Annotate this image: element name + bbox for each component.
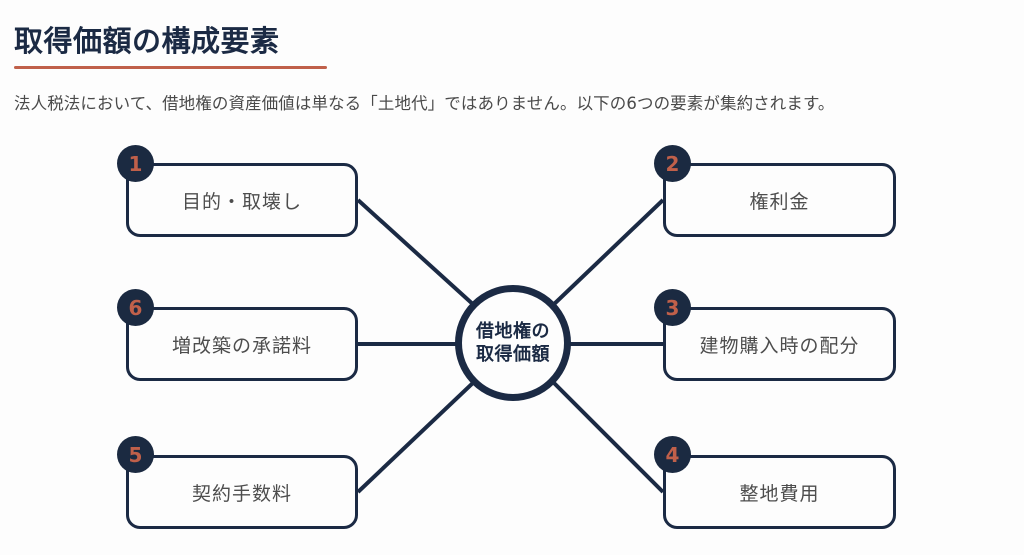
- node-label-2: 権利金: [749, 187, 809, 214]
- node-box-5[interactable]: 契約手数料: [126, 455, 358, 529]
- connector-node-4: [551, 380, 663, 492]
- node-badge-number-5: 5: [129, 445, 143, 465]
- node-badge-number-1: 1: [129, 154, 143, 174]
- node-badge-number-4: 4: [666, 445, 680, 465]
- node-label-6: 増改築の承諾料: [172, 331, 312, 358]
- node-box-1[interactable]: 目的・取壊し: [126, 163, 358, 237]
- acquisition-cost-diagram: 目的・取壊し 1 権利金 2 増改築の承諾料 6 建物購入時の配分 3 契約手数…: [0, 0, 1024, 555]
- node-box-4[interactable]: 整地費用: [663, 455, 896, 529]
- node-badge-number-2: 2: [666, 154, 680, 174]
- node-badge-number-3: 3: [666, 298, 680, 318]
- node-badge-3: 3: [654, 289, 691, 326]
- center-hub-circle: 借地権の 取得価額: [455, 285, 571, 401]
- node-box-2[interactable]: 権利金: [663, 163, 896, 237]
- node-label-4: 整地費用: [739, 479, 819, 506]
- node-badge-1: 1: [117, 145, 154, 182]
- node-badge-4: 4: [654, 436, 691, 473]
- node-badge-6: 6: [117, 289, 154, 326]
- node-badge-5: 5: [117, 436, 154, 473]
- connector-node-1: [358, 200, 476, 307]
- node-label-5: 契約手数料: [192, 479, 292, 506]
- node-box-3[interactable]: 建物購入時の配分: [663, 307, 896, 381]
- node-badge-number-6: 6: [129, 298, 143, 318]
- node-label-3: 建物購入時の配分: [699, 331, 859, 358]
- center-hub-line-2: 取得価額: [476, 343, 550, 366]
- node-box-6[interactable]: 増改築の承諾料: [126, 307, 358, 381]
- connector-node-2: [551, 200, 663, 307]
- connector-node-5: [358, 380, 476, 492]
- node-badge-2: 2: [654, 145, 691, 182]
- center-hub-line-1: 借地権の: [476, 320, 550, 343]
- node-label-1: 目的・取壊し: [182, 187, 302, 214]
